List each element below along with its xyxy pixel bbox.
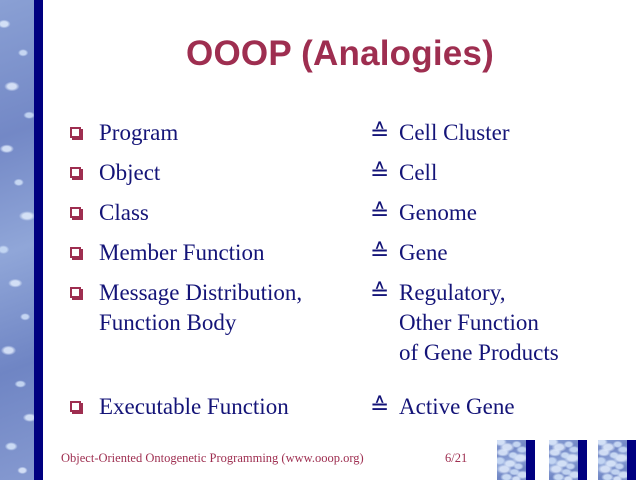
corresponds-to-icon: ≙ [370,238,392,268]
list-item: Program ≙ Cell Cluster [70,118,630,148]
analogy-right-cell: ≙ Active Gene [370,392,630,422]
analogy-left-cell: Executable Function [70,392,370,422]
analogy-right-cell: ≙ Regulatory, Other Function of Gene Pro… [370,278,630,368]
square-bullet-icon [70,167,81,178]
analogy-left-label: Member Function [99,238,264,268]
corresponds-to-icon: ≙ [370,118,392,148]
analogy-right-label: Cell [399,158,437,188]
footer-page-number: 6/21 [445,450,467,466]
decoration-block [598,440,636,480]
analogy-right-label: Active Gene [399,392,515,422]
list-item: Object ≙ Cell [70,158,630,188]
corresponds-to-icon: ≙ [370,392,392,422]
analogy-left-label: Object [99,158,160,188]
slide-decoration-left [0,0,44,480]
analogy-left-cell: Object [70,158,370,188]
list-item: Executable Function ≙ Active Gene [70,392,630,422]
page-title: OOOP (Analogies) [60,34,620,74]
square-bullet-icon [70,207,81,218]
analogy-right-label: Gene [399,238,448,268]
navy-accent-bar [34,0,43,480]
analogy-left-label: Class [99,198,149,228]
analogy-list: Program ≙ Cell Cluster Object ≙ Cell Cla… [70,118,630,432]
analogy-right-label: Genome [399,198,477,228]
analogy-right-cell: ≙ Genome [370,198,630,228]
marble-texture-tile [549,440,578,480]
footer-note: Object-Oriented Ontogenetic Programming … [61,450,364,466]
marble-texture-strip [0,0,34,480]
square-bullet-icon [70,247,81,258]
analogy-left-cell: Program [70,118,370,148]
corresponds-to-icon: ≙ [370,198,392,228]
analogy-left-cell: Class [70,198,370,228]
square-bullet-icon [70,287,81,298]
analogy-right-cell: ≙ Cell Cluster [370,118,630,148]
corresponds-to-icon: ≙ [370,278,392,308]
square-bullet-icon [70,127,81,138]
list-item: Member Function ≙ Gene [70,238,630,268]
analogy-left-cell: Member Function [70,238,370,268]
decoration-block [497,440,535,480]
marble-texture-tile [598,440,627,480]
analogy-right-label: Regulatory, Other Function of Gene Produ… [399,278,559,368]
decoration-block [549,440,587,480]
navy-accent-bar [526,440,535,480]
marble-texture-tile [497,440,526,480]
corresponds-to-icon: ≙ [370,158,392,188]
analogy-right-cell: ≙ Cell [370,158,630,188]
analogy-right-label: Cell Cluster [399,118,510,148]
analogy-right-cell: ≙ Gene [370,238,630,268]
analogy-left-cell: Message Distribution, Function Body [70,278,370,338]
list-item: Class ≙ Genome [70,198,630,228]
navy-accent-bar [578,440,587,480]
square-bullet-icon [70,401,81,412]
list-item: Message Distribution, Function Body ≙ Re… [70,278,630,368]
analogy-left-label: Executable Function [99,392,289,422]
analogy-left-label: Message Distribution, Function Body [99,278,302,338]
analogy-left-label: Program [99,118,178,148]
navy-accent-bar [627,440,636,480]
